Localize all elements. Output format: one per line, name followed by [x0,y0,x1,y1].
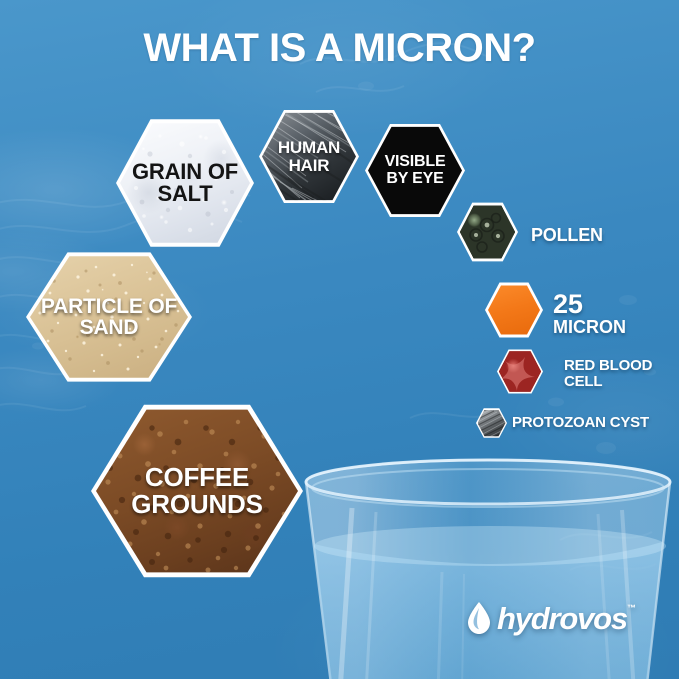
red-blood-cell-label: RED BLOOD CELL [564,358,679,390]
water-drop-icon [466,601,492,635]
micron-value: 25 [553,291,626,318]
micron-unit: MICRON [553,318,626,336]
infographic-canvas: WHAT IS A MICRON? GRAIN OF SALT [0,0,679,679]
brand-name-wrapper: hydrovos ™ [497,603,627,634]
micron-marker-label: 25 MICRON [553,291,626,336]
water-glass-image [292,452,679,679]
pollen-label: POLLEN [531,226,603,245]
brand-logo[interactable]: hydrovos ™ [466,601,627,635]
trademark-symbol: ™ [627,604,636,613]
brand-name: hydrovos [497,601,627,636]
human-hair-label: HUMAN HAIR [262,139,356,174]
visible-by-eye-label: VISIBLE BY EYE [368,154,462,187]
grain-of-salt-label: GRAIN OF SALT [120,161,250,206]
coffee-grounds-label: COFFEE GROUNDS [96,464,298,517]
particle-of-sand-label: PARTICLE OF SAND [30,296,188,339]
page-title: WHAT IS A MICRON? [0,26,679,70]
protozoan-cyst-label: PROTOZOAN CYST [512,415,649,431]
